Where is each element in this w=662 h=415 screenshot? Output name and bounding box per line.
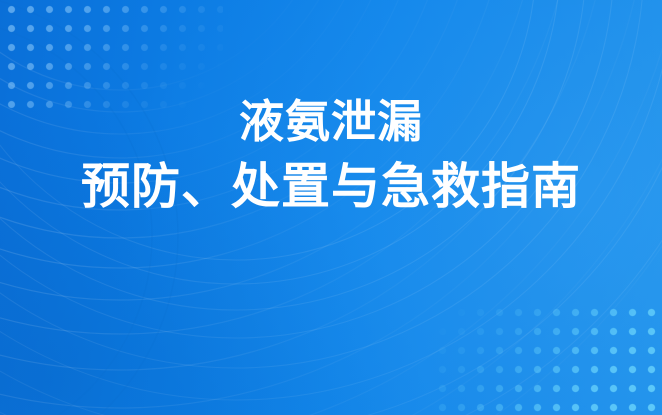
banner-title-block: 液氨泄漏 预防、处置与急救指南 — [0, 96, 662, 216]
banner-title-line-2: 预防、处置与急救指南 — [0, 159, 662, 216]
dot-grid-top-left — [0, 0, 223, 111]
dot-grid-bottom-right — [429, 299, 662, 415]
banner-title-line-1: 液氨泄漏 — [0, 96, 662, 149]
title-banner: 液氨泄漏 预防、处置与急救指南 — [0, 0, 662, 415]
